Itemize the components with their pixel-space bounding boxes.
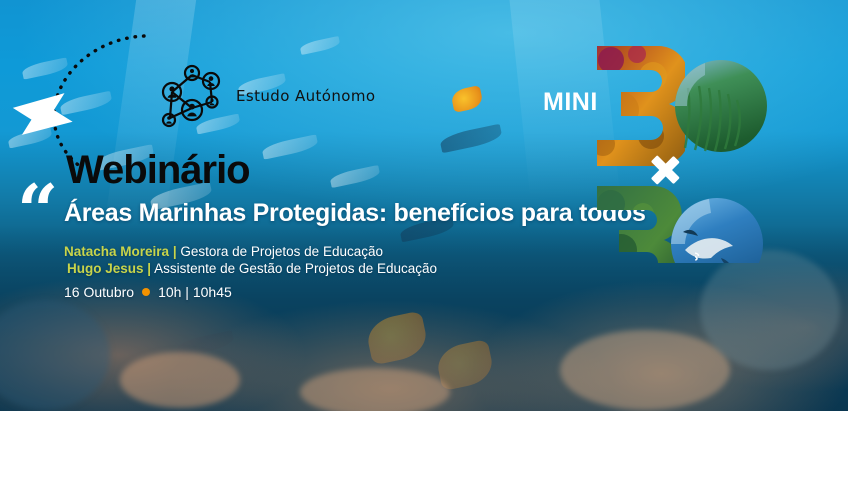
estudo-autonomo-logo: Estudo Autónomo [152, 60, 375, 132]
estudo-autonomo-label: Estudo Autónomo [236, 87, 375, 105]
webinar-poster: Estudo Autónomo Webinário “ Áreas Marinh… [0, 0, 848, 491]
arrow-head [8, 74, 83, 154]
bullet-separator-icon [142, 288, 150, 296]
coral-blob [120, 352, 240, 408]
number-30-bottom [585, 178, 685, 263]
speakers-list: Natacha Moreira | Gestora de Projetos de… [64, 243, 437, 277]
fish-silhouette [261, 134, 319, 159]
number-30-top [585, 38, 685, 173]
speaker-role: Gestora de Projetos de Educação [180, 244, 383, 259]
footer-bar: COORDINATION PARTNERS OCEANO AZUL fundaç… [0, 411, 848, 491]
speaker-row: Natacha Moreira | Gestora de Projetos de… [64, 243, 437, 260]
people-network-icon [152, 60, 230, 132]
mini-label: MINI [543, 88, 598, 117]
coral-blob [700, 250, 840, 370]
speaker-separator: | [147, 261, 151, 276]
speaker-separator: | [173, 244, 177, 259]
coral-blob [300, 368, 450, 411]
fish-silhouette [439, 124, 503, 154]
event-times: 10h | 10h45 [158, 284, 232, 300]
fish-silhouette [299, 36, 340, 55]
curved-tagline-text: STUDENTS' WAVE FOR THE OCEAN [695, 39, 701, 262]
kicker-webinario: Webinário [66, 148, 250, 193]
reef-fish [450, 85, 484, 113]
fish-silhouette [329, 165, 381, 188]
date-time-line: 16 Outubro 10h | 10h45 [64, 284, 232, 300]
speaker-name: Hugo Jesus [67, 261, 144, 276]
speaker-row: Hugo Jesus | Assistente de Gestão de Pro… [64, 260, 437, 277]
speaker-role: Assistente de Gestão de Projetos de Educ… [154, 261, 437, 276]
speaker-name: Natacha Moreira [64, 244, 169, 259]
coral-blob [560, 330, 730, 410]
mini-30x30-logo: MINI [525, 18, 825, 263]
event-date: 16 Outubro [64, 284, 134, 300]
quote-mark-icon: “ [17, 193, 58, 229]
curved-tagline: STUDENTS' WAVE FOR THE OCEAN [695, 28, 825, 263]
